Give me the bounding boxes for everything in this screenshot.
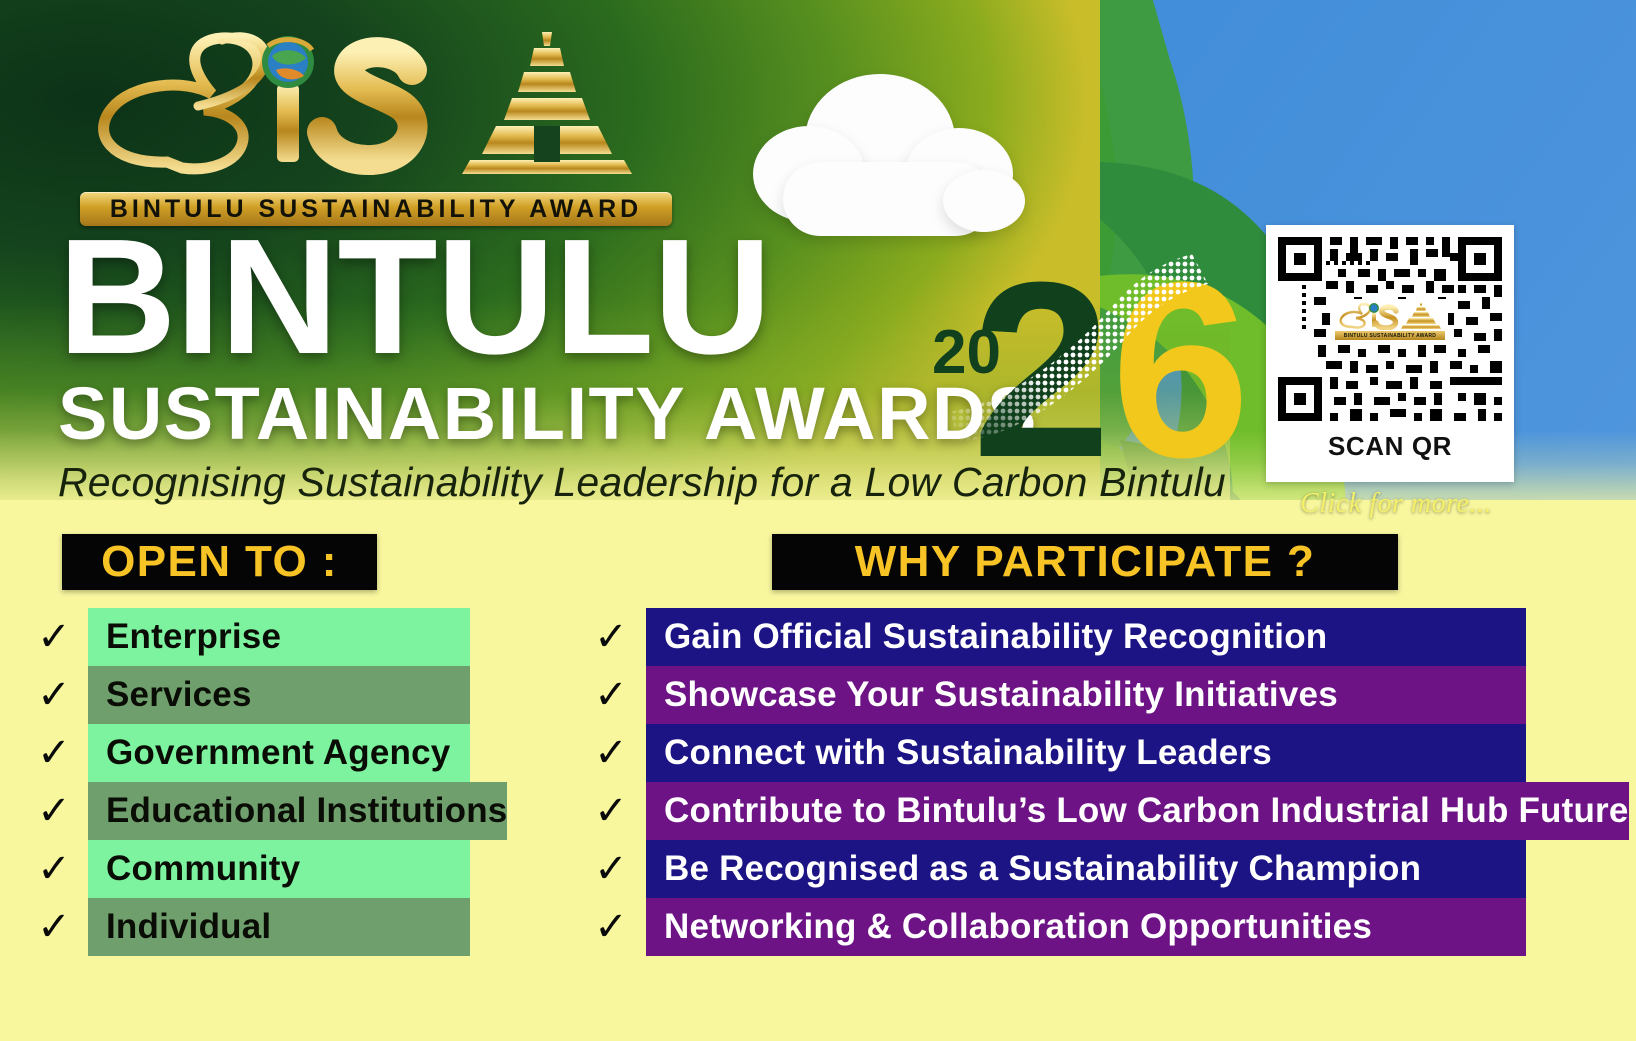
cloud-icon (745, 70, 1045, 240)
list-item[interactable]: ✓Community (20, 840, 470, 898)
why-participate-item-row-bar[interactable]: Gain Official Sustainability Recognition (646, 608, 1526, 666)
open-to-item-row-bar[interactable]: Government Agency (88, 724, 470, 782)
open-to-item-label: Educational Institutions (106, 791, 507, 831)
why-participate-item-row-bar[interactable]: Connect with Sustainability Leaders (646, 724, 1526, 782)
checkmark-icon: ✓ (576, 666, 646, 724)
scan-qr-label: SCAN QR (1274, 431, 1506, 462)
why-participate-item-row-bar[interactable]: Networking & Collaboration Opportunities (646, 898, 1526, 956)
click-for-more-link[interactable]: Click for more... (1266, 488, 1526, 520)
why-participate-item-row-bar[interactable]: Be Recognised as a Sustainability Champi… (646, 840, 1526, 898)
qr-code-image[interactable]: BINTULU SUSTAINABILITY AWARD (1274, 233, 1506, 429)
checkmark-icon: ✓ (20, 666, 88, 724)
checkmark-icon: ✓ (576, 898, 646, 956)
open-to-item-row-bar[interactable]: Community (88, 840, 470, 898)
why-participate-header-bar: WHY PARTICIPATE ? (772, 534, 1398, 590)
open-to-header-bar: OPEN TO : (62, 534, 377, 590)
open-to-item-label: Individual (106, 907, 271, 947)
checkmark-icon: ✓ (576, 608, 646, 666)
checkmark-icon: ✓ (576, 724, 646, 782)
open-to-item-label: Enterprise (106, 617, 281, 657)
bisa-logo-marks (72, 22, 672, 182)
open-to-item-row-bar[interactable]: Individual (88, 898, 470, 956)
list-item[interactable]: ✓Networking & Collaboration Opportunitie… (576, 898, 1526, 956)
poster-canvas: BINTULU SUSTAINABILITY AWARD BINTULU SUS… (0, 0, 1636, 1041)
bisa-logo[interactable]: BINTULU SUSTAINABILITY AWARD (72, 22, 672, 222)
open-to-item-label: Services (106, 675, 252, 715)
why-participate-item-row-bar[interactable]: Contribute to Bintulu’s Low Carbon Indus… (646, 782, 1629, 840)
list-item[interactable]: ✓Enterprise (20, 608, 470, 666)
year-2026: 6 2 20 (916, 240, 1216, 490)
why-participate-item-row-bar[interactable]: Showcase Your Sustainability Initiatives (646, 666, 1526, 724)
why-participate-item-label: Be Recognised as a Sustainability Champi… (664, 849, 1421, 889)
qr-center-logo-marks (1336, 302, 1444, 330)
list-item[interactable]: ✓Contribute to Bintulu’s Low Carbon Indu… (576, 782, 1526, 840)
checkmark-icon: ✓ (576, 782, 646, 840)
qr-center-logo: BINTULU SUSTAINABILITY AWARD (1332, 299, 1448, 343)
why-participate-item-label: Showcase Your Sustainability Initiatives (664, 675, 1338, 715)
list-item[interactable]: ✓Connect with Sustainability Leaders (576, 724, 1526, 782)
checkmark-icon: ✓ (20, 724, 88, 782)
qr-center-logo-band: BINTULU SUSTAINABILITY AWARD (1335, 331, 1445, 340)
list-item[interactable]: ✓Educational Institutions (20, 782, 470, 840)
list-item[interactable]: ✓Individual (20, 898, 470, 956)
list-item[interactable]: ✓Gain Official Sustainability Recognitio… (576, 608, 1526, 666)
qr-code-card[interactable]: BINTULU SUSTAINABILITY AWARD SCAN QR (1266, 225, 1514, 482)
open-to-item-row-bar[interactable]: Services (88, 666, 470, 724)
why-participate-item-label: Connect with Sustainability Leaders (664, 733, 1272, 773)
checkmark-icon: ✓ (576, 840, 646, 898)
open-to-list: ✓Enterprise✓Services✓Government Agency✓E… (20, 608, 470, 956)
list-item[interactable]: ✓Showcase Your Sustainability Initiative… (576, 666, 1526, 724)
why-participate-item-label: Networking & Collaboration Opportunities (664, 907, 1372, 947)
list-item[interactable]: ✓Services (20, 666, 470, 724)
list-item[interactable]: ✓Government Agency (20, 724, 470, 782)
why-participate-item-label: Gain Official Sustainability Recognition (664, 617, 1327, 657)
checkmark-icon: ✓ (20, 898, 88, 956)
open-to-item-row-bar[interactable]: Educational Institutions (88, 782, 507, 840)
open-to-item-row-bar[interactable]: Enterprise (88, 608, 470, 666)
checkmark-icon: ✓ (20, 782, 88, 840)
open-to-item-label: Government Agency (106, 733, 450, 773)
checkmark-icon: ✓ (20, 608, 88, 666)
open-to-header-text: OPEN TO : (101, 537, 338, 587)
checkmark-icon: ✓ (20, 840, 88, 898)
why-participate-list: ✓Gain Official Sustainability Recognitio… (576, 608, 1526, 956)
halftone-swoosh-decoration (916, 240, 1216, 490)
list-item[interactable]: ✓Be Recognised as a Sustainability Champ… (576, 840, 1526, 898)
open-to-item-label: Community (106, 849, 300, 889)
why-participate-header-text: WHY PARTICIPATE ? (855, 537, 1316, 587)
why-participate-item-label: Contribute to Bintulu’s Low Carbon Indus… (664, 791, 1629, 831)
